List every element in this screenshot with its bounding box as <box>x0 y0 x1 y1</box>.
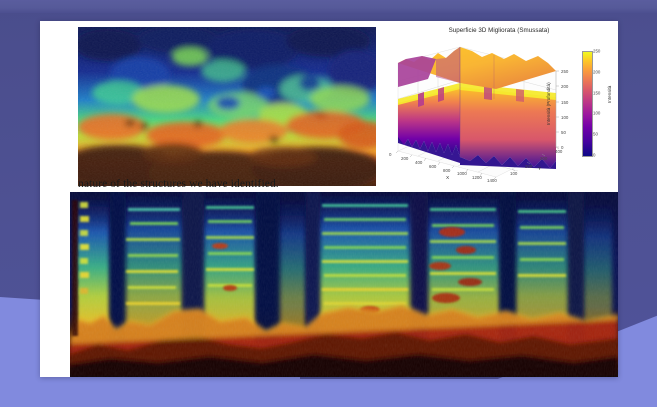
z-tick-150: 150 <box>561 100 568 105</box>
surface-plot-svg <box>388 39 563 179</box>
colorbar-tick-100: 100 <box>593 111 600 116</box>
colorbar-gradient <box>582 51 593 157</box>
colorbar-tick-250: 250 <box>593 49 600 54</box>
figure-3d-surface: Superficie 3D Migliorata (Smussata) <box>380 21 618 189</box>
x-tick-200: 200 <box>401 156 408 161</box>
colorbar-tick-50: 50 <box>593 132 598 137</box>
z-tick-250: 250 <box>561 69 568 74</box>
x-tick-0: 0 <box>389 152 391 157</box>
x-tick-800: 800 <box>443 168 450 173</box>
colorbar-tick-200: 200 <box>593 70 600 75</box>
spectrogram-thumbnail-image <box>78 27 376 186</box>
background-top-band <box>0 0 657 13</box>
z-axis-title: Intensità (Profondità) <box>546 82 551 125</box>
colorbar-title: Intensità <box>607 86 612 103</box>
z-tick-0: 0 <box>561 145 563 150</box>
x-tick-400: 400 <box>415 160 422 165</box>
presentation-screenshot: nature of the structures we have identif… <box>0 0 657 407</box>
colorbar-tick-150: 150 <box>593 91 600 96</box>
x-tick-1200: 1200 <box>472 175 482 180</box>
z-tick-100: 100 <box>561 115 568 120</box>
y-tick-200: 200 <box>525 164 532 169</box>
chart-title: Superficie 3D Migliorata (Smussata) <box>380 27 618 34</box>
slide-canvas: nature of the structures we have identif… <box>40 21 618 377</box>
spectrogram-thumbnail-svg <box>78 27 376 186</box>
z-tick-50: 50 <box>561 130 566 135</box>
x-axis-title: X <box>446 176 449 181</box>
x-tick-600: 600 <box>429 164 436 169</box>
colorbar: 250 200 150 100 50 0 Intensità <box>576 47 616 165</box>
y-axis-title: Y <box>538 167 541 172</box>
x-tick-1400: 1400 <box>487 178 497 183</box>
chart-plot-area: 0 200 400 600 800 1000 1200 1400 X 100 2… <box>388 39 563 179</box>
y-tick-100: 100 <box>510 171 517 176</box>
main-spectrogram-image <box>70 192 618 377</box>
main-spectrogram-svg <box>70 192 618 377</box>
z-tick-200: 200 <box>561 84 568 89</box>
y-tick-300: 300 <box>540 156 547 161</box>
x-tick-1000: 1000 <box>457 171 467 176</box>
colorbar-tick-0: 0 <box>593 153 595 158</box>
